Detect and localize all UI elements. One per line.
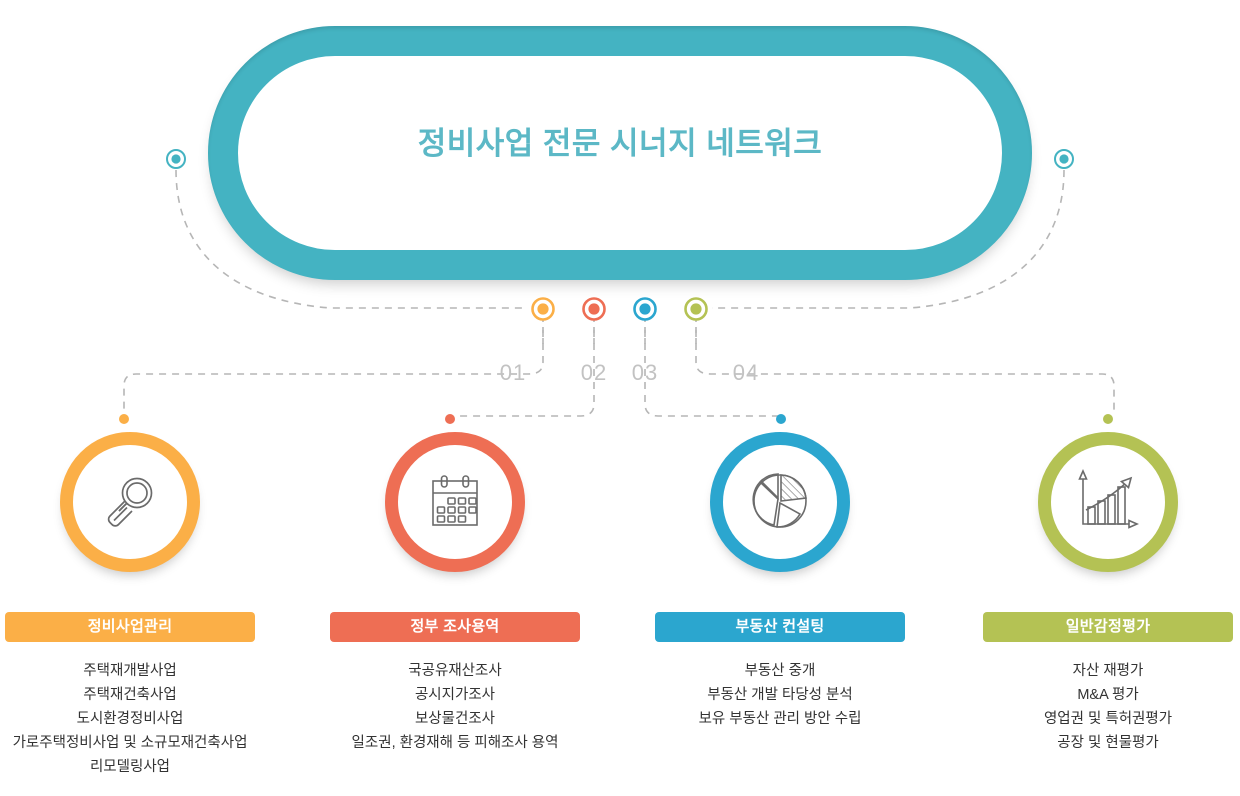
list-item: 도시환경정비사업 — [0, 707, 260, 731]
list-item: 공시지가조사 — [325, 683, 585, 707]
bar-chart-growth-icon — [1072, 466, 1144, 538]
category-title-4: 일반감정평가 — [983, 612, 1233, 642]
magnifier-icon — [95, 467, 165, 537]
icon-ring-4[interactable] — [1038, 432, 1178, 572]
category-column-4: 일반감정평가 자산 재평가 M&A 평가 영업권 및 특허권평가 공장 및 현물… — [978, 432, 1238, 755]
list-item: 자산 재평가 — [978, 659, 1238, 683]
arrow-head-03 — [641, 309, 649, 317]
list-item: 국공유재산조사 — [325, 659, 585, 683]
list-item: 보상물건조사 — [325, 707, 585, 731]
category-column-1: 정비사업관리 주택재개발사업 주택재건축사업 도시환경정비사업 가로주택정비사업… — [0, 432, 260, 779]
list-item: 부동산 개발 타당성 분석 — [650, 683, 910, 707]
hub-node-04 — [686, 299, 707, 320]
list-item: 공장 및 현물평가 — [978, 731, 1238, 755]
list-item: 부동산 중개 — [650, 659, 910, 683]
list-item: 리모델링사업 — [0, 755, 260, 779]
step-number-04: 04 — [716, 362, 776, 384]
list-item: 영업권 및 특허권평가 — [978, 707, 1238, 731]
list-item: 주택재개발사업 — [0, 659, 260, 683]
arrow-head-04 — [692, 309, 700, 317]
list-item: M&A 평가 — [978, 683, 1238, 707]
column-dot-04 — [1103, 414, 1113, 424]
page-title: 정비사업 전문 시너지 네트워크 — [0, 128, 1240, 159]
step-number-03: 03 — [615, 362, 675, 384]
category-items-2: 국공유재산조사 공시지가조사 보상물건조사 일조권, 환경재해 등 피해조사 용… — [325, 659, 585, 755]
list-item: 일조권, 환경재해 등 피해조사 용역 — [325, 731, 585, 755]
category-items-4: 자산 재평가 M&A 평가 영업권 및 특허권평가 공장 및 현물평가 — [978, 659, 1238, 755]
icon-ring-3[interactable] — [710, 432, 850, 572]
hub-node-03 — [635, 299, 656, 320]
hub-node-02 — [584, 299, 605, 320]
hub-node-01 — [533, 299, 554, 320]
icon-ring-1[interactable] — [60, 432, 200, 572]
calendar-icon — [420, 467, 490, 537]
category-column-2: 정부 조사용역 국공유재산조사 공시지가조사 보상물건조사 일조권, 환경재해 … — [325, 432, 585, 755]
arrow-head-02 — [590, 309, 598, 317]
category-items-3: 부동산 중개 부동산 개발 타당성 분석 보유 부동산 관리 방안 수립 — [650, 659, 910, 731]
list-item: 가로주택정비사업 및 소규모재건축사업 — [0, 731, 260, 755]
category-items-1: 주택재개발사업 주택재건축사업 도시환경정비사업 가로주택정비사업 및 소규모재… — [0, 659, 260, 779]
column-dot-02 — [445, 414, 455, 424]
category-title-1: 정비사업관리 — [5, 612, 255, 642]
category-title-3: 부동산 컨설팅 — [655, 612, 905, 642]
column-dot-01 — [119, 414, 129, 424]
category-column-3: 부동산 컨설팅 부동산 중개 부동산 개발 타당성 분석 보유 부동산 관리 방… — [650, 432, 910, 731]
arrow-head-01 — [539, 309, 547, 317]
column-dot-03 — [776, 414, 786, 424]
category-title-2: 정부 조사용역 — [330, 612, 580, 642]
step-number-01: 01 — [483, 362, 543, 384]
wire-step-01 — [124, 330, 543, 412]
icon-ring-2[interactable] — [385, 432, 525, 572]
infographic-canvas: 정비사업 전문 시너지 네트워크 — [0, 0, 1240, 796]
pie-chart-icon — [744, 466, 816, 538]
list-item: 보유 부동산 관리 방안 수립 — [650, 707, 910, 731]
list-item: 주택재건축사업 — [0, 683, 260, 707]
